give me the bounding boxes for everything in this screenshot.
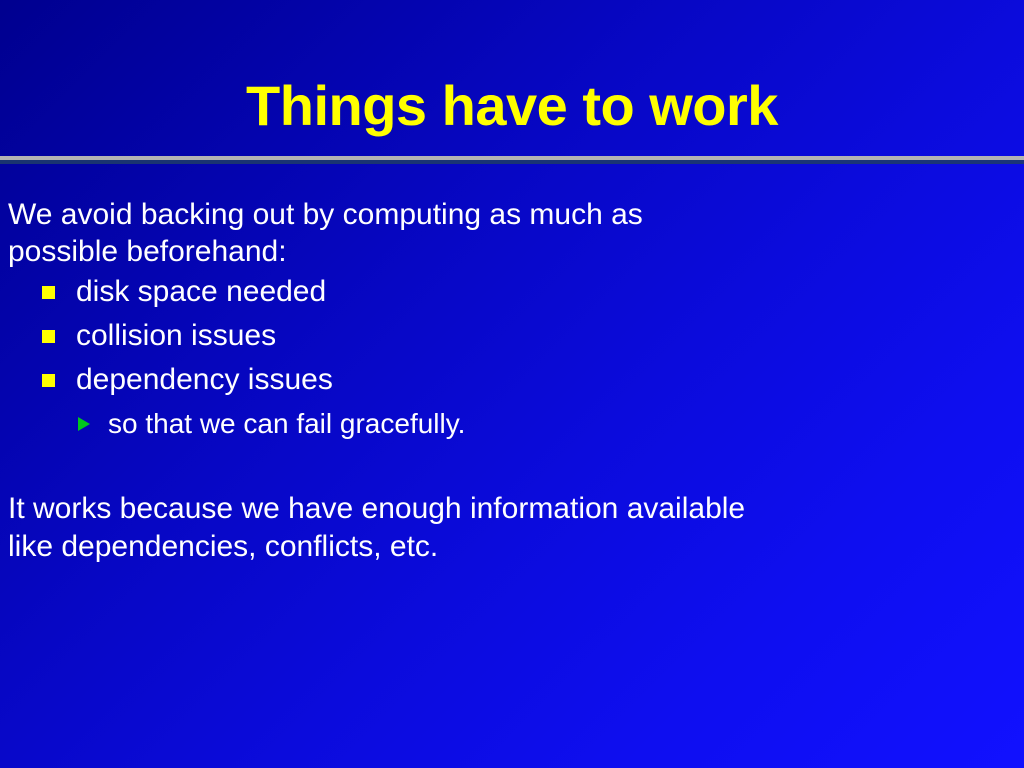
sub-list-item-label: so that we can fail gracefully.: [108, 408, 465, 439]
list-item: disk space needed: [8, 270, 1016, 314]
presentation-slide: Things have to work We avoid backing out…: [0, 0, 1024, 768]
list-item-label: collision issues: [76, 319, 276, 352]
list-item: dependency issues: [8, 358, 1016, 402]
list-item: collision issues: [8, 314, 1016, 358]
title-divider-shadow: [0, 160, 1024, 164]
closing-paragraph: It works because we have enough informat…: [8, 490, 1016, 566]
intro-paragraph: We avoid backing out by computing as muc…: [8, 196, 1016, 270]
square-bullet-icon: [42, 286, 55, 299]
triangle-bullet-icon: [78, 417, 90, 431]
slide-title: Things have to work: [0, 74, 1024, 138]
list-item-label: disk space needed: [76, 275, 326, 308]
bullet-list: disk space needed collision issues depen…: [8, 270, 1016, 446]
square-bullet-icon: [42, 374, 55, 387]
slide-body: We avoid backing out by computing as muc…: [8, 196, 1016, 566]
list-item-label: dependency issues: [76, 363, 333, 396]
body-spacer: [8, 446, 1016, 490]
sub-list-item: so that we can fail gracefully.: [8, 402, 1016, 446]
square-bullet-icon: [42, 330, 55, 343]
